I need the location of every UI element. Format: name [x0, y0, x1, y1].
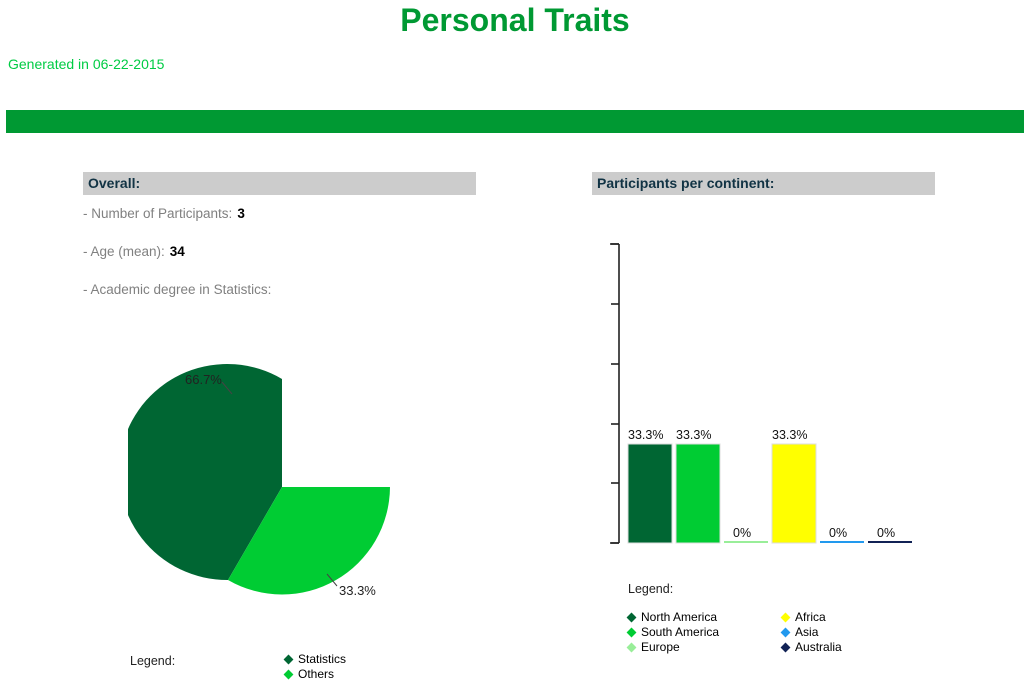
bar-chart-legend: Legend: North America South America Euro… [628, 582, 928, 655]
legend-label-north-america: North America [641, 610, 717, 625]
bar-legend-columns: North America South America Europe Afric… [628, 610, 928, 655]
bar-asia [820, 541, 864, 543]
bar-legend-column-1: North America South America Europe [628, 610, 719, 655]
legend-diamond-icon-statistics [284, 655, 294, 665]
bar-south-america [676, 444, 720, 543]
academic-degree-pie-chart: 66.7% 33.3% [128, 360, 478, 610]
legend-diamond-icon-africa [781, 613, 791, 623]
overall-section-header: Overall: [83, 172, 476, 195]
bar-value-label-australia: 0% [877, 526, 895, 540]
legend-label-europe: Europe [641, 640, 680, 655]
pie-value-label-statistics: 66.7% [185, 372, 222, 387]
bar-value-label-africa: 33.3% [772, 428, 807, 442]
pie-value-label-others: 33.3% [339, 583, 376, 598]
bar-europe [724, 541, 768, 543]
legend-label-australia: Australia [795, 640, 842, 655]
pie-legend-column-1: Statistics Others [285, 652, 346, 682]
pie-legend-title: Legend: [130, 654, 175, 668]
pie-legend-columns: Statistics Others [285, 652, 346, 682]
legend-diamond-icon-others [284, 670, 294, 680]
bar-legend-column-2: Africa Asia Australia [782, 610, 842, 655]
legend-item-australia: Australia [782, 640, 842, 655]
overall-panel: Overall: - Number of Participants:3 - Ag… [83, 172, 476, 309]
legend-diamond-icon-australia [781, 643, 791, 653]
legend-label-statistics: Statistics [298, 652, 346, 667]
legend-item-africa: Africa [782, 610, 842, 625]
stat-value-age-mean: 34 [170, 244, 185, 259]
stat-row-participants: - Number of Participants:3 [83, 195, 476, 233]
bar-chart-y-ticks [611, 244, 619, 543]
legend-item-south-america: South America [628, 625, 719, 640]
bar-africa [772, 444, 816, 543]
legend-label-africa: Africa [795, 610, 826, 625]
bar-value-label-south-america: 33.3% [676, 428, 711, 442]
legend-label-others: Others [298, 667, 334, 682]
bar-value-label-asia: 0% [829, 526, 847, 540]
stat-label-academic-degree: - Academic degree in Statistics: [83, 282, 271, 297]
legend-diamond-icon-south-america [627, 628, 637, 638]
bar-value-label-north-america: 33.3% [628, 428, 663, 442]
legend-item-north-america: North America [628, 610, 719, 625]
overall-stat-list: - Number of Participants:3 - Age (mean):… [83, 195, 476, 309]
stat-label-participants: - Number of Participants: [83, 206, 232, 221]
bar-chart-bars [628, 444, 912, 543]
legend-label-asia: Asia [795, 625, 818, 640]
generated-timestamp: Generated in 06-22-2015 [8, 56, 164, 72]
header-divider-bar [6, 110, 1024, 133]
page-title: Personal Traits [0, 2, 1030, 39]
pie-chart-svg: 66.7% 33.3% [128, 360, 478, 610]
continents-panel: Participants per continent: [592, 172, 935, 195]
legend-diamond-icon-asia [781, 628, 791, 638]
legend-item-europe: Europe [628, 640, 719, 655]
bar-chart-y-axis [610, 244, 619, 543]
stat-label-age-mean: - Age (mean): [83, 244, 165, 259]
continents-section-header: Participants per continent: [592, 172, 935, 195]
stat-value-participants: 3 [237, 206, 245, 221]
bar-north-america [628, 444, 672, 543]
legend-diamond-icon-north-america [627, 613, 637, 623]
participants-per-continent-bar-chart: 33.3% 33.3% 0% 33.3% 0% 0% [592, 236, 932, 556]
legend-item-statistics: Statistics [285, 652, 346, 667]
stat-row-age-mean: - Age (mean):34 [83, 233, 476, 271]
stat-row-academic-degree: - Academic degree in Statistics: [83, 271, 476, 309]
bar-legend-title: Legend: [628, 582, 928, 596]
legend-diamond-icon-europe [627, 643, 637, 653]
bar-value-label-europe: 0% [733, 526, 751, 540]
bar-chart-svg: 33.3% 33.3% 0% 33.3% 0% 0% [592, 236, 932, 556]
legend-item-asia: Asia [782, 625, 842, 640]
legend-item-others: Others [285, 667, 346, 682]
bar-australia [868, 541, 912, 543]
legend-label-south-america: South America [641, 625, 719, 640]
